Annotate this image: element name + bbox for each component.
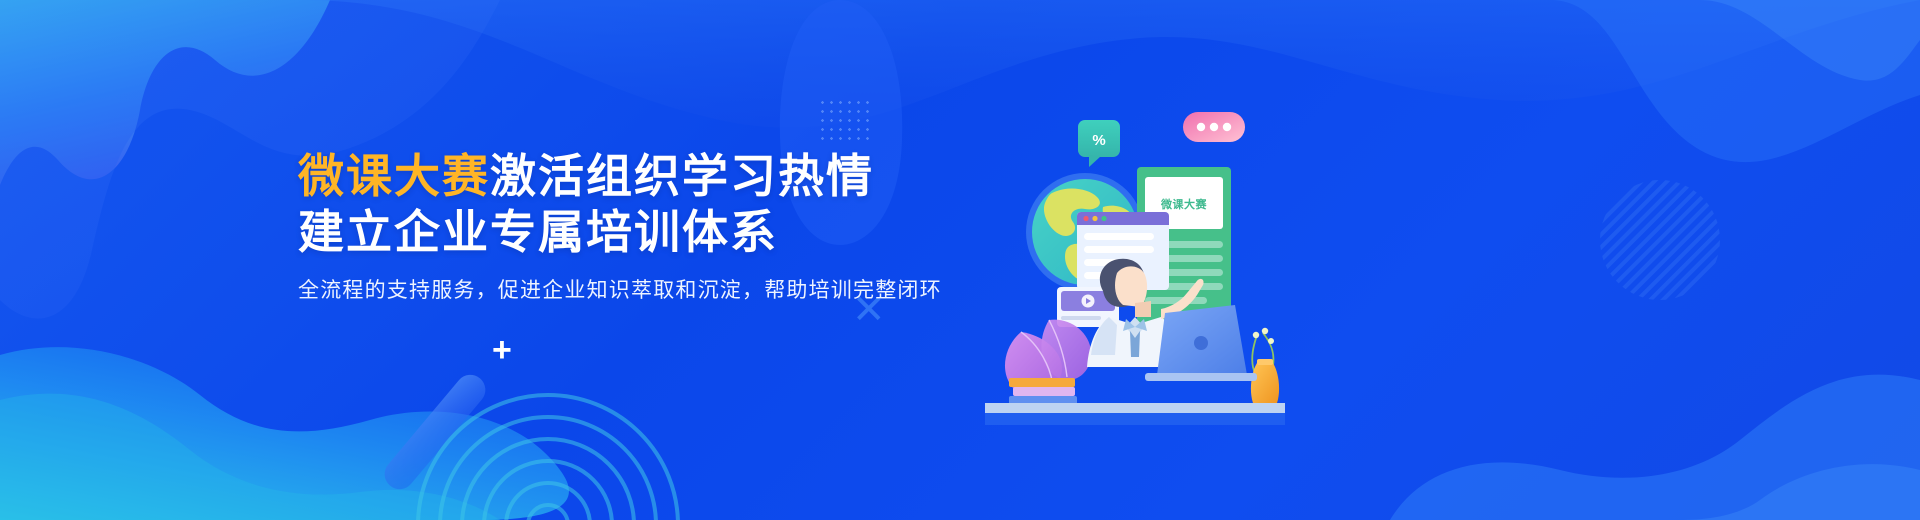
book-stack-icon bbox=[1009, 378, 1077, 405]
plus-mark-icon: + bbox=[492, 333, 512, 367]
dot-grid-icon bbox=[818, 98, 872, 144]
percent-label: % bbox=[1092, 132, 1105, 149]
concentric-rings-shape bbox=[418, 395, 678, 520]
tablet-label: 微课大赛 bbox=[1160, 197, 1207, 211]
headline-rest: 激活组织学习热情 bbox=[490, 150, 874, 202]
flower-vase-icon bbox=[1251, 328, 1279, 403]
hero-illustration: % 微课大赛 bbox=[985, 95, 1285, 425]
diagonal-bar-shape bbox=[379, 369, 492, 496]
headline-accent: 微课大赛 bbox=[298, 150, 490, 202]
percent-bubble-icon: % bbox=[1078, 120, 1120, 167]
banner-subtitle: 全流程的支持服务，促进企业知识萃取和沉淀，帮助培训完整闭环 bbox=[298, 276, 918, 306]
striped-circle-shape bbox=[1600, 180, 1720, 300]
headline-line-2: 建立企业专属培训体系 bbox=[298, 204, 918, 260]
banner-copy: 微课大赛激活组织学习热情 建立企业专属培训体系 全流程的支持服务，促进企业知识萃… bbox=[298, 148, 918, 306]
headline-line-1: 微课大赛激活组织学习热情 bbox=[298, 148, 918, 204]
desk bbox=[985, 403, 1285, 425]
background-waves bbox=[0, 0, 1920, 520]
promo-banner: 微课大赛激活组织学习热情 建立企业专属培训体系 全流程的支持服务，促进企业知识萃… bbox=[0, 0, 1920, 520]
chat-bubble-icon bbox=[1183, 112, 1245, 142]
